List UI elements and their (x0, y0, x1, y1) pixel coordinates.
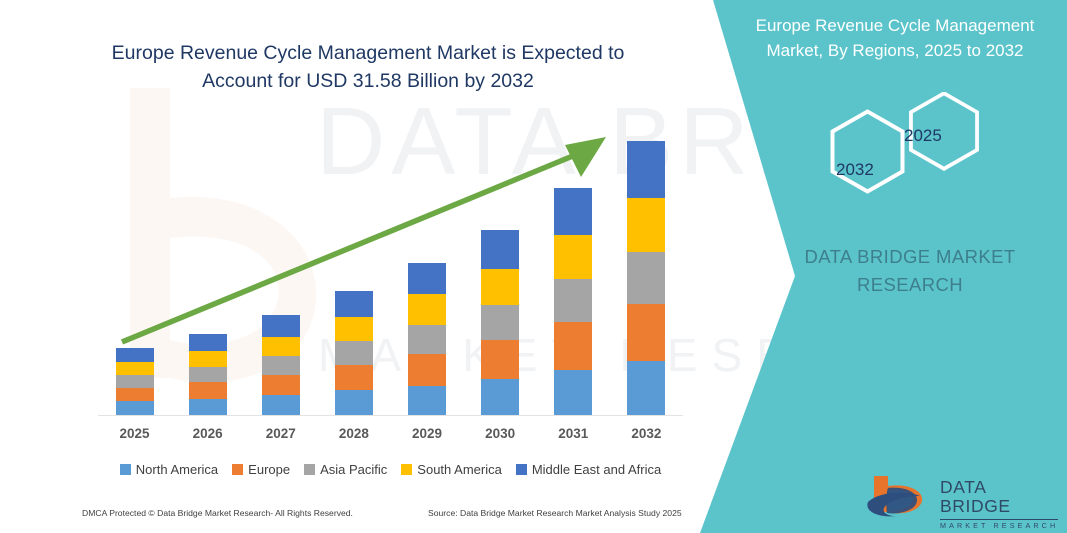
legend-item[interactable]: Asia Pacific (304, 462, 387, 477)
legend-item[interactable]: South America (401, 462, 502, 477)
bar-segment (627, 198, 665, 252)
x-label-2025: 2025 (105, 426, 165, 441)
legend-item[interactable]: Middle East and Africa (516, 462, 661, 477)
bar-segment (116, 388, 154, 401)
panel-heading-line1: Europe Revenue Cycle Management (735, 14, 1055, 39)
legend-swatch (516, 464, 527, 475)
legend-swatch (232, 464, 243, 475)
bar-segment (408, 354, 446, 386)
legend-item[interactable]: Europe (232, 462, 290, 477)
bar-segment (116, 401, 154, 415)
bar-2025[interactable] (116, 348, 154, 415)
logo-title: DATA BRIDGE (940, 478, 1060, 517)
infographic-canvas: DATA BRIDGE MARKET RESEARCH Europe Reven… (0, 0, 1067, 533)
x-label-2027: 2027 (251, 426, 311, 441)
logo-subtitle: MARKET RESEARCH (940, 522, 1060, 530)
x-label-2032: 2032 (616, 426, 676, 441)
bar-segment (627, 252, 665, 304)
chart-legend: North AmericaEuropeAsia PacificSouth Ame… (98, 459, 683, 479)
bar-segment (408, 386, 446, 415)
chart-x-axis-labels: 20252026202720282029203020312032 (98, 426, 683, 446)
legend-label: Middle East and Africa (532, 462, 661, 477)
page-title: Europe Revenue Cycle Management Market i… (88, 40, 648, 95)
hexagon-outlines (820, 92, 1020, 207)
x-label-2029: 2029 (397, 426, 457, 441)
hexagon-label-2032: 2032 (836, 160, 874, 180)
page-title-line1: Europe Revenue Cycle Management Market i… (88, 40, 648, 68)
bar-segment (262, 356, 300, 375)
x-label-2026: 2026 (178, 426, 238, 441)
legend-swatch (304, 464, 315, 475)
x-label-2030: 2030 (470, 426, 530, 441)
chart-axis-line (98, 415, 683, 416)
bar-segment (481, 379, 519, 415)
logo-divider (940, 519, 1058, 520)
footer-copyright: DMCA Protected © Data Bridge Market Rese… (82, 508, 353, 518)
bar-segment (335, 365, 373, 391)
panel-heading: Europe Revenue Cycle Management Market, … (735, 14, 1055, 63)
legend-label: Europe (248, 462, 290, 477)
legend-item[interactable]: North America (120, 462, 218, 477)
panel-heading-line2: Market, By Regions, 2025 to 2032 (735, 39, 1055, 64)
footer-source: Source: Data Bridge Market Research Mark… (428, 508, 682, 518)
legend-label: North America (136, 462, 218, 477)
bar-segment (116, 362, 154, 375)
legend-swatch (401, 464, 412, 475)
x-label-2031: 2031 (543, 426, 603, 441)
hexagon-label-2025: 2025 (904, 126, 942, 146)
legend-swatch (120, 464, 131, 475)
bar-segment (189, 367, 227, 382)
bar-segment (116, 375, 154, 388)
year-hexagons: 2032 2025 (820, 92, 1020, 207)
bar-segment (335, 390, 373, 415)
bar-segment (189, 399, 227, 415)
bar-segment (627, 361, 665, 415)
databridge-logo-text: DATA BRIDGE MARKET RESEARCH (940, 478, 1060, 529)
bar-segment (262, 395, 300, 415)
bar-segment (262, 375, 300, 395)
growth-arrow-icon (110, 125, 620, 355)
panel-brand-name: DATA BRIDGE MARKET RESEARCH (760, 243, 1060, 299)
bar-segment (627, 141, 665, 198)
footer: DMCA Protected © Data Bridge Market Rese… (0, 508, 690, 528)
bar-segment (189, 382, 227, 398)
bar-segment (554, 370, 592, 414)
legend-label: Asia Pacific (320, 462, 387, 477)
bar-segment (627, 304, 665, 361)
legend-label: South America (417, 462, 502, 477)
panel-brand-line2: RESEARCH (760, 271, 1060, 299)
panel-brand-line1: DATA BRIDGE MARKET (760, 243, 1060, 271)
bar-2032[interactable] (627, 141, 665, 415)
page-title-line2: Account for USD 31.58 Billion by 2032 (88, 68, 648, 96)
x-label-2028: 2028 (324, 426, 384, 441)
